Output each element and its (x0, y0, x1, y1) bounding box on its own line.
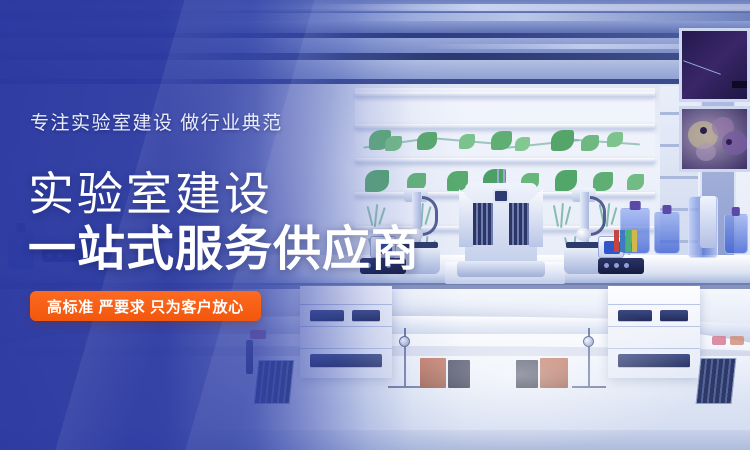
laboratory-promo-banner: 专注实验室建设 做行业典范 实验室建设 一站式服务供应商 高标准 严要求 只为客… (0, 0, 750, 450)
banner-content: 专注实验室建设 做行业典范 实验室建设 一站式服务供应商 高标准 严要求 只为客… (0, 0, 750, 450)
quality-badge: 高标准 严要求 只为客户放心 (30, 291, 261, 321)
banner-tagline: 专注实验室建设 做行业典范 (30, 108, 283, 135)
headline-line-1: 实验室建设 (28, 171, 273, 217)
headline-line-2: 一站式服务供应商 (28, 226, 420, 274)
quality-badge-label: 高标准 严要求 只为客户放心 (47, 296, 244, 317)
